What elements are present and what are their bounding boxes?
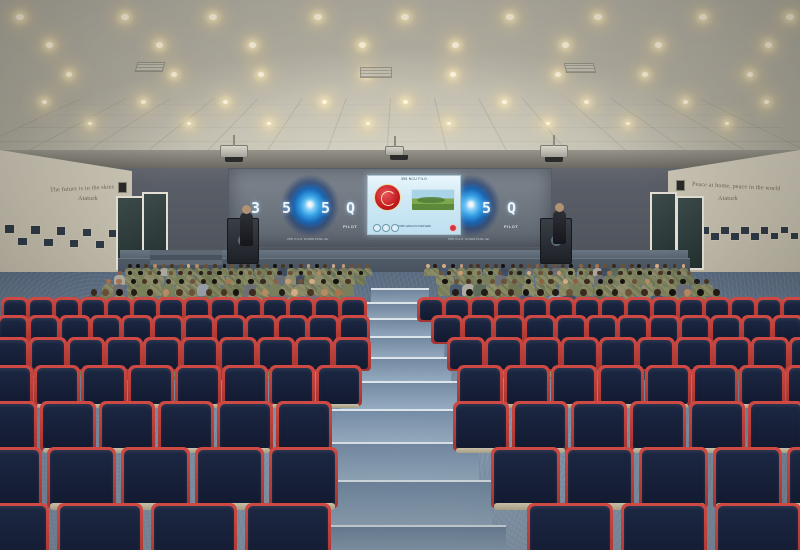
pilot-label-left: PILOT xyxy=(343,224,357,229)
air-vent xyxy=(360,67,392,78)
auditorium-seat[interactable] xyxy=(624,506,704,550)
audience-head xyxy=(267,271,272,276)
audience-head xyxy=(309,279,314,285)
ceiling-downlight xyxy=(562,42,569,48)
seat-back xyxy=(507,368,547,404)
seat-back xyxy=(161,404,211,449)
auditorium-seat[interactable] xyxy=(0,506,46,550)
slide-photo xyxy=(411,189,455,211)
audience-head xyxy=(495,289,502,296)
audience-head xyxy=(442,279,447,285)
auditorium-seat[interactable] xyxy=(460,368,500,404)
seat-back xyxy=(198,450,261,506)
audience-head xyxy=(307,271,312,276)
seat-back xyxy=(460,368,500,404)
audience-head xyxy=(206,289,213,296)
auditorium-seat[interactable] xyxy=(220,404,270,449)
ceiling-projector-left xyxy=(220,145,248,158)
audience-member-uniformed xyxy=(342,284,355,296)
auditorium-seat[interactable] xyxy=(178,368,218,404)
wall-picture-frame xyxy=(730,232,740,241)
seat-back xyxy=(154,506,234,550)
record-indicator-icon xyxy=(449,224,457,232)
seat-back xyxy=(279,404,329,449)
audience-head xyxy=(260,279,265,285)
wall-picture-frame xyxy=(790,232,799,240)
audience-head xyxy=(618,271,623,276)
auditorium-seat[interactable] xyxy=(0,404,34,449)
audience-head xyxy=(345,279,350,285)
seat-back xyxy=(718,506,798,550)
audience-head xyxy=(641,289,648,296)
pilot-label-right: PILOT xyxy=(504,224,518,229)
seat-back xyxy=(574,404,624,449)
ceiling-downlight xyxy=(450,72,456,77)
audience-head xyxy=(178,271,183,276)
right-wall-signature: Ataturk xyxy=(718,196,738,202)
auditorium-seat[interactable] xyxy=(716,450,779,506)
audience-head xyxy=(544,264,548,268)
wall-picture-frame xyxy=(43,238,54,248)
audience-head xyxy=(321,289,328,296)
audience-head xyxy=(537,289,544,296)
audience-head xyxy=(597,271,602,276)
auditorium-seat[interactable] xyxy=(272,368,312,404)
audience-head xyxy=(517,271,522,276)
wall-picture-frame xyxy=(17,237,28,247)
auditorium-seat[interactable] xyxy=(248,506,328,550)
auditorium-seat[interactable] xyxy=(161,404,211,449)
seat-back xyxy=(0,450,39,506)
ceiling-downlight xyxy=(322,100,327,104)
seat-back xyxy=(248,506,328,550)
ceiling-downlight xyxy=(249,42,256,48)
audience-head xyxy=(204,264,208,268)
seat-back xyxy=(225,368,265,404)
audience-head xyxy=(713,289,720,296)
audience-head xyxy=(548,271,553,276)
audience-head xyxy=(163,289,170,296)
seat-back xyxy=(84,368,124,404)
audience-head xyxy=(561,264,565,268)
audience-head xyxy=(680,279,685,285)
ceiling-downlight xyxy=(447,122,451,125)
auditorium-seat[interactable] xyxy=(718,506,798,550)
ceiling-downlight xyxy=(594,14,602,20)
wall-picture-frame xyxy=(710,232,720,241)
seat-back xyxy=(716,450,779,506)
speaker-person-left xyxy=(240,212,253,246)
auditorium-seat[interactable] xyxy=(494,450,557,506)
seat-back xyxy=(37,368,77,404)
seat-back xyxy=(633,404,683,449)
squadron-char-3: Q xyxy=(507,199,516,217)
ceiling xyxy=(0,0,800,158)
auditorium-seat[interactable] xyxy=(43,404,93,449)
speaker-person-right xyxy=(553,210,566,244)
audience-head xyxy=(273,264,277,268)
audience-head xyxy=(248,279,253,285)
audience-head xyxy=(508,289,515,296)
audience-head xyxy=(249,289,256,296)
seat-back xyxy=(751,404,800,449)
ceiling-downlight xyxy=(546,122,550,125)
wall-picture-frame xyxy=(82,228,92,237)
left-wall-signature: Ataturk xyxy=(78,196,98,202)
auditorium-scene: 3 5 5 Q PILOT 355 FILO KOMUTANLIGI 3 5 5… xyxy=(0,0,800,550)
seat-back xyxy=(272,368,312,404)
squadron-char-2: 5 xyxy=(321,199,330,217)
seat-back xyxy=(60,506,140,550)
wall-picture-frame xyxy=(95,240,105,249)
audience-head xyxy=(684,289,691,296)
audience-head xyxy=(225,279,230,285)
audience-head xyxy=(217,271,222,276)
ceiling-projector-center xyxy=(385,146,404,156)
seat-back xyxy=(515,404,565,449)
seat-back xyxy=(220,404,270,449)
ceiling-downlight xyxy=(655,42,662,48)
seat-back xyxy=(272,450,335,506)
audience-head xyxy=(176,289,183,296)
auditorium-seat[interactable] xyxy=(456,404,506,449)
audience-head xyxy=(307,289,314,296)
seat-back xyxy=(742,368,782,404)
auditorium-seat[interactable] xyxy=(648,368,688,404)
audience-head xyxy=(131,289,138,296)
seat-back xyxy=(131,368,171,404)
audience-head xyxy=(580,289,587,296)
auditorium-seat[interactable] xyxy=(568,450,631,506)
wall-speaker-right xyxy=(676,180,685,191)
seat-back xyxy=(624,506,704,550)
wall-picture-frame xyxy=(720,226,730,235)
audience-head xyxy=(138,271,143,276)
ceiling-downlight xyxy=(46,42,53,48)
seat-back xyxy=(648,368,688,404)
seat-back xyxy=(124,450,187,506)
air-vent xyxy=(135,62,166,72)
slide-badge-icon xyxy=(391,224,399,232)
seat-back xyxy=(178,368,218,404)
seat-back xyxy=(0,506,46,550)
audience-head xyxy=(277,271,282,276)
seat-back xyxy=(456,404,506,449)
auditorium-seat[interactable] xyxy=(633,404,683,449)
ceiling-downlight xyxy=(66,72,72,77)
audience-head xyxy=(221,289,228,296)
audience-head xyxy=(552,289,559,296)
air-vent xyxy=(564,63,596,73)
auditorium-seat[interactable] xyxy=(790,450,800,506)
squadron-char-3: Q xyxy=(346,199,355,217)
unit-flag xyxy=(584,200,597,246)
seat-back xyxy=(568,450,631,506)
ceiling-downlight xyxy=(747,72,753,77)
auditorium-seat[interactable] xyxy=(742,368,782,404)
seat-back xyxy=(695,368,735,404)
auditorium-seat[interactable] xyxy=(154,506,234,550)
slide-badge-icon xyxy=(382,224,390,232)
auditorium-seat[interactable] xyxy=(751,404,800,449)
seat-back xyxy=(0,404,34,449)
audience-head xyxy=(116,289,123,296)
step-nosing xyxy=(332,409,468,411)
wall-picture-frame xyxy=(770,232,779,240)
audience-head xyxy=(523,289,530,296)
audience-head xyxy=(607,271,612,276)
ceiling-downlight xyxy=(584,100,589,104)
turkish-flag xyxy=(182,202,195,248)
seat-back xyxy=(790,450,800,506)
seat-back xyxy=(554,368,594,404)
auditorium-seat[interactable] xyxy=(515,404,565,449)
audience-head xyxy=(669,289,676,296)
seat-back xyxy=(692,404,742,449)
wall-picture-frame xyxy=(56,226,66,236)
ceiling-downlight xyxy=(683,100,688,104)
ceiling-downlight xyxy=(258,72,264,77)
ceiling-downlight xyxy=(764,100,769,104)
audience-head xyxy=(233,289,240,296)
audience-head xyxy=(458,271,463,276)
audience-head xyxy=(291,289,298,296)
seat-back xyxy=(789,368,800,404)
auditorium-seat[interactable] xyxy=(601,368,641,404)
wall-picture-frame xyxy=(780,226,789,234)
auditorium-seat[interactable] xyxy=(530,506,610,550)
audience-head xyxy=(596,289,603,296)
seat-back xyxy=(0,368,30,404)
slide-badge-icon xyxy=(373,224,381,232)
audience-head xyxy=(658,271,663,276)
presentation-slide: 355 NCU FILO TURK HAVA KUVVETLERI xyxy=(367,175,461,235)
auditorium-seat[interactable] xyxy=(319,368,359,404)
audience-head xyxy=(337,271,342,276)
audience-head xyxy=(612,289,619,296)
audience-head xyxy=(481,289,488,296)
wall-picture-frame xyxy=(69,239,79,248)
ceiling-downlight xyxy=(765,42,772,48)
auditorium-seat[interactable] xyxy=(642,450,705,506)
audience-head xyxy=(568,271,573,276)
ceiling-downlight xyxy=(171,72,177,77)
ceiling-light-wash xyxy=(0,0,800,158)
audience-head xyxy=(147,289,154,296)
audience-head xyxy=(262,289,269,296)
auditorium-seat[interactable] xyxy=(507,368,547,404)
wall-picture-frame xyxy=(760,226,769,235)
ceiling-downlight xyxy=(187,122,191,125)
audience-head xyxy=(566,289,573,296)
auditorium-seat[interactable] xyxy=(84,368,124,404)
auditorium-seat[interactable] xyxy=(554,368,594,404)
audience-head xyxy=(116,279,121,285)
ceiling-downlight xyxy=(555,72,561,77)
audience-head xyxy=(467,271,472,276)
seat-back xyxy=(530,506,610,550)
slide-title: 355 NCU FILO xyxy=(368,177,460,181)
seat-back xyxy=(102,404,152,449)
seat-back xyxy=(494,450,557,506)
auditorium-seat[interactable] xyxy=(225,368,265,404)
ceiling-downlight xyxy=(403,100,408,104)
ceiling-downlight xyxy=(223,100,228,104)
ceiling-downlight xyxy=(209,14,217,20)
audience-head xyxy=(476,264,480,268)
audience-head xyxy=(501,279,506,285)
auditorium-seat[interactable] xyxy=(198,450,261,506)
auditorium-seat[interactable] xyxy=(692,404,742,449)
audience-head xyxy=(697,289,704,296)
audience-head xyxy=(91,289,98,296)
wall-speaker-left xyxy=(118,182,127,193)
wall-picture-frame xyxy=(30,225,41,235)
auditorium-seat[interactable] xyxy=(0,368,30,404)
auditorium-seat[interactable] xyxy=(789,368,800,404)
seat-back xyxy=(601,368,641,404)
audience-head xyxy=(333,279,338,285)
auditorium-seat[interactable] xyxy=(279,404,329,449)
audience-head xyxy=(637,271,642,276)
audience-head xyxy=(335,289,342,296)
auditorium-seat[interactable] xyxy=(272,450,335,506)
audience-head xyxy=(625,289,632,296)
audience-head xyxy=(538,271,543,276)
ceiling-downlight xyxy=(42,100,47,104)
audience-head xyxy=(285,279,290,285)
ceiling-projector-right xyxy=(540,145,568,158)
step-nosing xyxy=(371,288,429,290)
audience-head xyxy=(288,271,293,276)
seat-back xyxy=(319,368,359,404)
audience-head xyxy=(279,289,286,296)
aisle-step xyxy=(332,409,468,442)
unit-flag xyxy=(606,202,619,248)
audience-head xyxy=(102,289,109,296)
auditorium-seat[interactable] xyxy=(131,368,171,404)
auditorium-seat[interactable] xyxy=(37,368,77,404)
squadron-crest-icon xyxy=(374,184,401,211)
audience-head xyxy=(189,289,196,296)
auditorium-seat[interactable] xyxy=(124,450,187,506)
seat-back xyxy=(642,450,705,506)
wall-picture-frame xyxy=(4,224,15,234)
seat-back xyxy=(50,450,113,506)
auditorium-seat[interactable] xyxy=(574,404,624,449)
audience-head xyxy=(469,264,473,268)
ceiling-downlight xyxy=(642,72,648,77)
ceiling-downlight xyxy=(359,42,366,48)
auditorium-seat[interactable] xyxy=(0,450,39,506)
bottom-logo-right: 355 FILO KOMUTANLIGI xyxy=(448,237,490,241)
audience-head xyxy=(694,279,699,285)
auditorium-seat[interactable] xyxy=(102,404,152,449)
turkish-flag xyxy=(288,202,301,248)
auditorium-seat[interactable] xyxy=(60,506,140,550)
audience-head xyxy=(654,289,661,296)
ceiling-downlight xyxy=(156,42,163,48)
auditorium-seat[interactable] xyxy=(50,450,113,506)
audience-member-uniformed xyxy=(356,275,367,285)
audience-head xyxy=(466,289,473,296)
squadron-char-2: 5 xyxy=(482,199,491,217)
audience-head xyxy=(584,279,589,285)
audience-head xyxy=(452,289,459,296)
seat-back xyxy=(43,404,93,449)
wall-picture-frame xyxy=(740,226,750,235)
wall-picture-frame xyxy=(750,232,760,241)
ceiling-downlight xyxy=(452,42,459,48)
auditorium-seat[interactable] xyxy=(695,368,735,404)
